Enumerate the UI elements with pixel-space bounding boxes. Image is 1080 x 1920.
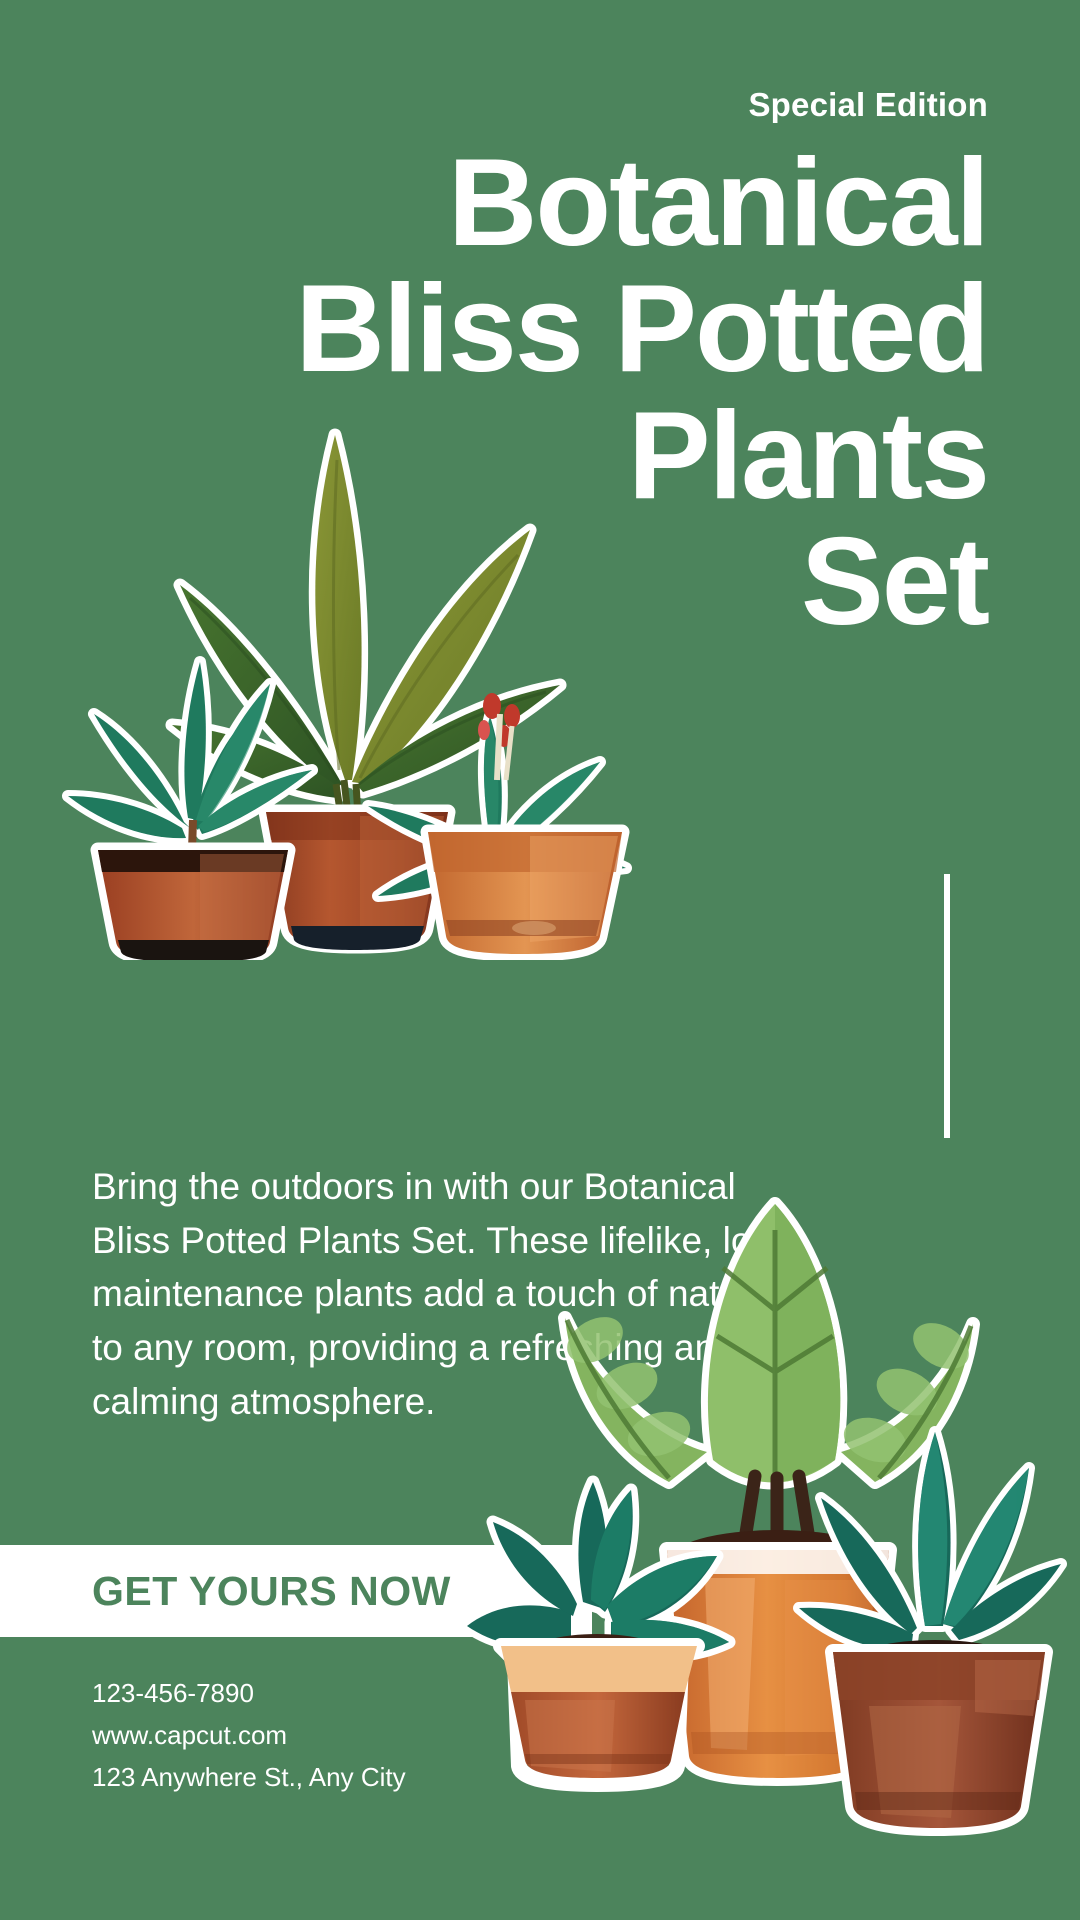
cta-label: GET YOURS NOW <box>92 1568 451 1615</box>
potted-plants-cluster-illustration <box>455 1160 1080 1920</box>
contact-phone[interactable]: 123-456-7890 <box>92 1672 406 1714</box>
title-line-1: Botanical <box>68 140 988 266</box>
contact-info: 123-456-7890 www.capcut.com 123 Anywhere… <box>92 1672 406 1798</box>
three-potted-plants-illustration <box>60 380 680 960</box>
vertical-accent-rule <box>944 874 950 1138</box>
title-line-2: Bliss Potted <box>68 266 988 392</box>
contact-website[interactable]: www.capcut.com <box>92 1714 406 1756</box>
contact-address: 123 Anywhere St., Any City <box>92 1756 406 1798</box>
eyebrow-label: Special Edition <box>748 88 988 121</box>
poster-canvas: Special Edition Botanical Bliss Potted P… <box>0 0 1080 1920</box>
